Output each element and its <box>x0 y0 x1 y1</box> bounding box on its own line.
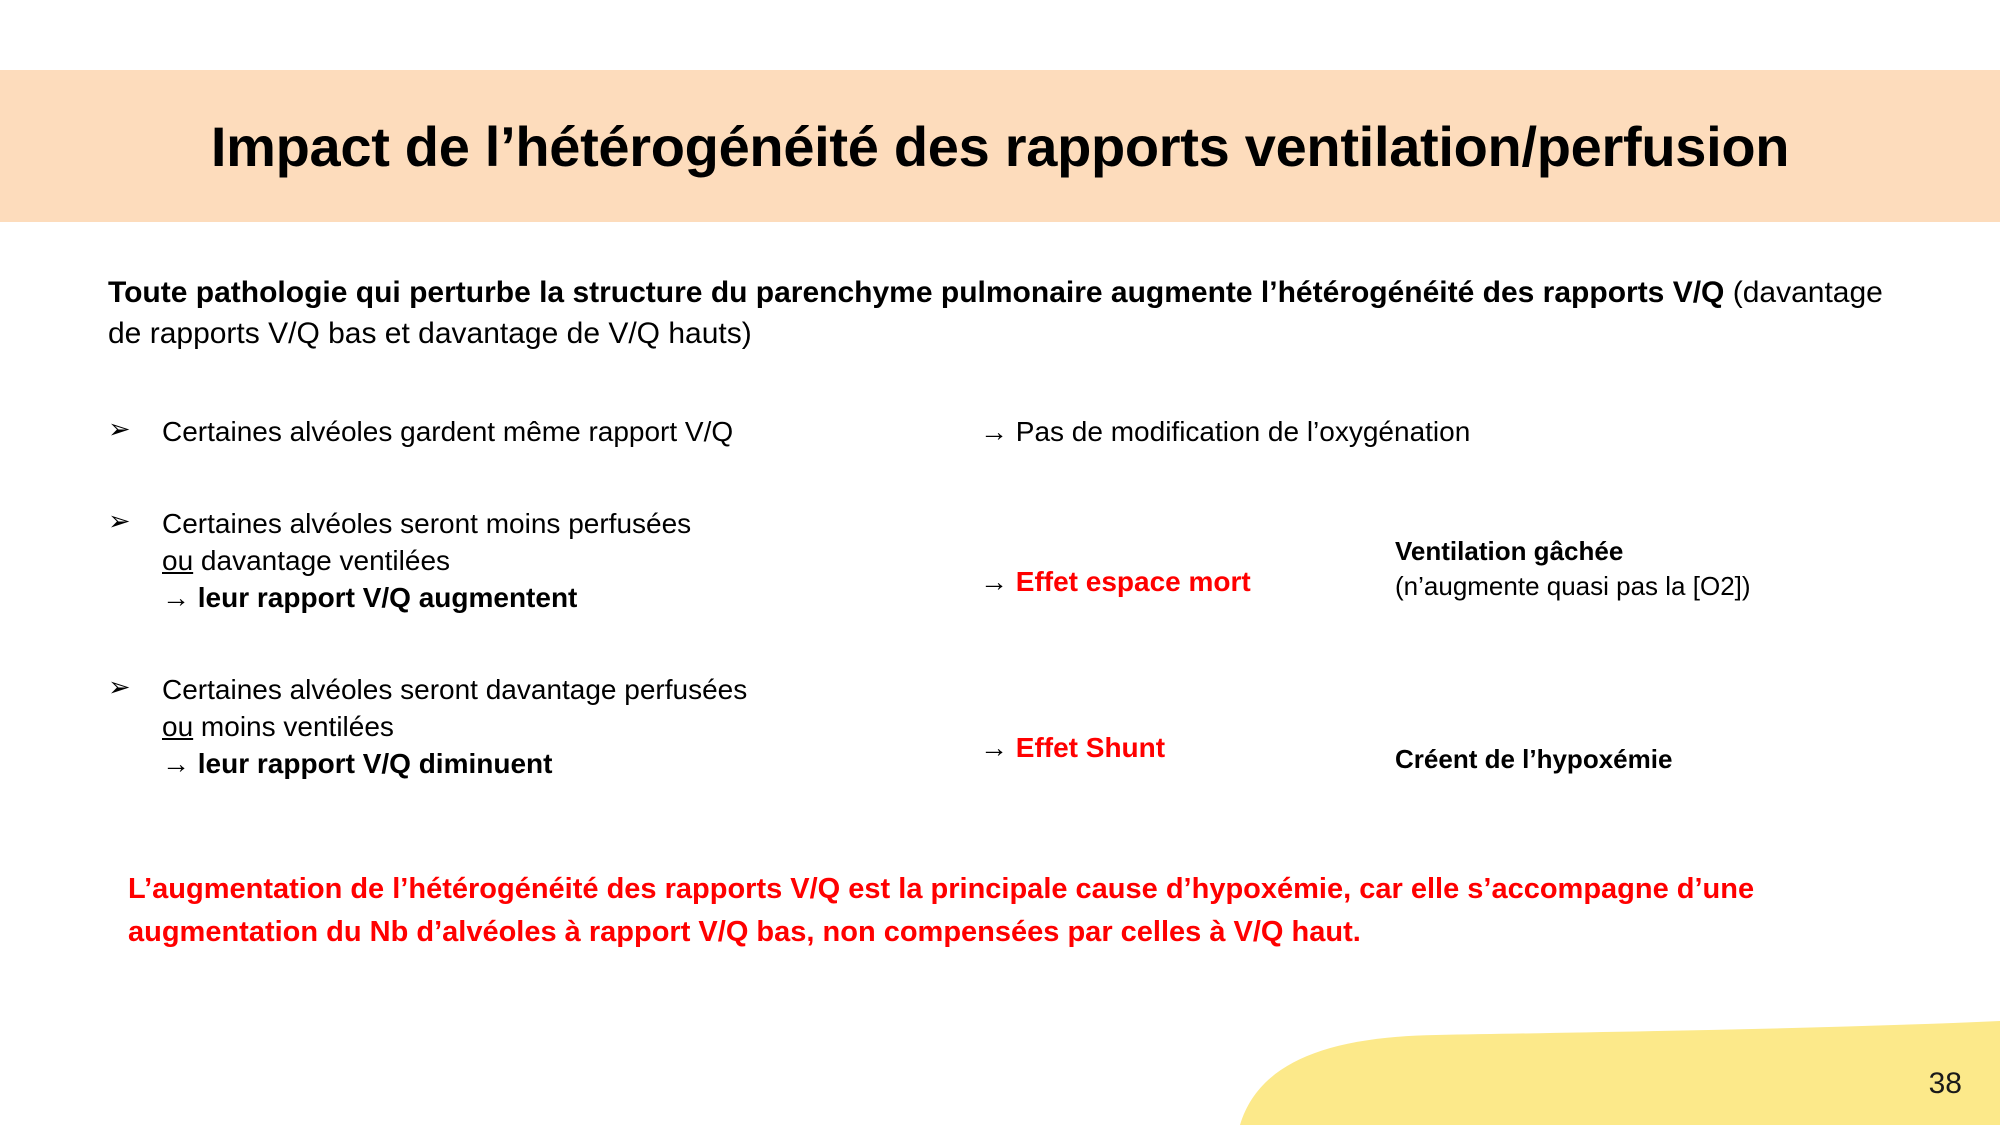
bullet-arrow-icon: ➢ <box>108 504 131 540</box>
consequence-title: Créent de l’hypoxémie <box>1395 742 1955 777</box>
intro-paragraph: Toute pathologie qui perturbe la structu… <box>108 272 1918 355</box>
conclusion-paragraph: L’augmentation de l’hétérogénéité des ra… <box>128 868 1918 953</box>
row-2-left-column: ➢ Certaines alvéoles seront moins perfus… <box>108 506 948 617</box>
subline-text: davantage ventilées <box>193 545 450 576</box>
bullet-item: ➢ Certaines alvéoles seront davantage pe… <box>108 672 948 709</box>
bullet-arrow-icon: ➢ <box>108 412 131 448</box>
page-number: 38 <box>1929 1067 1962 1101</box>
header-banner: Impact de l’hétérogénéité des rapports v… <box>0 70 2000 222</box>
bullet-text: Certaines alvéoles seront moins perfusée… <box>162 508 691 539</box>
underlined-conjunction: ou <box>162 545 193 576</box>
row-3-right-column: Créent de l’hypoxémie <box>1395 742 1955 777</box>
consequence-title: Ventilation gâchée <box>1395 534 1955 569</box>
row-2-middle-column: → Effet espace mort <box>980 564 1360 601</box>
arrow-glyph-icon: → <box>980 732 1016 763</box>
row-1-middle-column: → Pas de modification de l’oxygénation <box>980 414 1360 451</box>
intro-bold-text: Toute pathologie qui perturbe la structu… <box>108 276 1724 309</box>
row-2-right-column: Ventilation gâchée (n’augmente quasi pas… <box>1395 534 1955 604</box>
consequence-detail: (n’augmente quasi pas la [O2]) <box>1395 569 1955 604</box>
bullet-text: Certaines alvéoles gardent même rapport … <box>162 416 733 447</box>
bullet-subline: ou davantage ventilées <box>108 543 948 580</box>
bullet-arrow-icon: ➢ <box>108 670 131 706</box>
bullet-item: ➢ Certaines alvéoles gardent même rappor… <box>108 414 948 451</box>
slide-canvas: Impact de l’hétérogénéité des rapports v… <box>0 0 2000 1125</box>
page-title: Impact de l’hétérogénéité des rapports v… <box>0 70 2000 222</box>
bullet-subline: ou moins ventilées <box>108 709 948 746</box>
bullet-item: ➢ Certaines alvéoles seront moins perfus… <box>108 506 948 543</box>
row-3-left-column: ➢ Certaines alvéoles seront davantage pe… <box>108 672 948 783</box>
bullet-text: Certaines alvéoles seront davantage perf… <box>162 674 747 705</box>
decorative-corner-shape <box>1200 1013 2000 1125</box>
row-1-left-column: ➢ Certaines alvéoles gardent même rappor… <box>108 414 948 451</box>
row-3-middle-column: → Effet Shunt <box>980 730 1360 767</box>
underlined-conjunction: ou <box>162 711 193 742</box>
bullet-conclusion-line: → leur rapport V/Q diminuent <box>108 746 948 783</box>
outcome-text: → Pas de modification de l’oxygénation <box>980 416 1470 447</box>
bullet-conclusion-line: → leur rapport V/Q augmentent <box>108 580 948 617</box>
effect-label: Effet Shunt <box>1016 732 1165 763</box>
subline-text: moins ventilées <box>193 711 394 742</box>
arrow-glyph-icon: → <box>980 566 1016 597</box>
effect-label: Effet espace mort <box>1016 566 1251 597</box>
